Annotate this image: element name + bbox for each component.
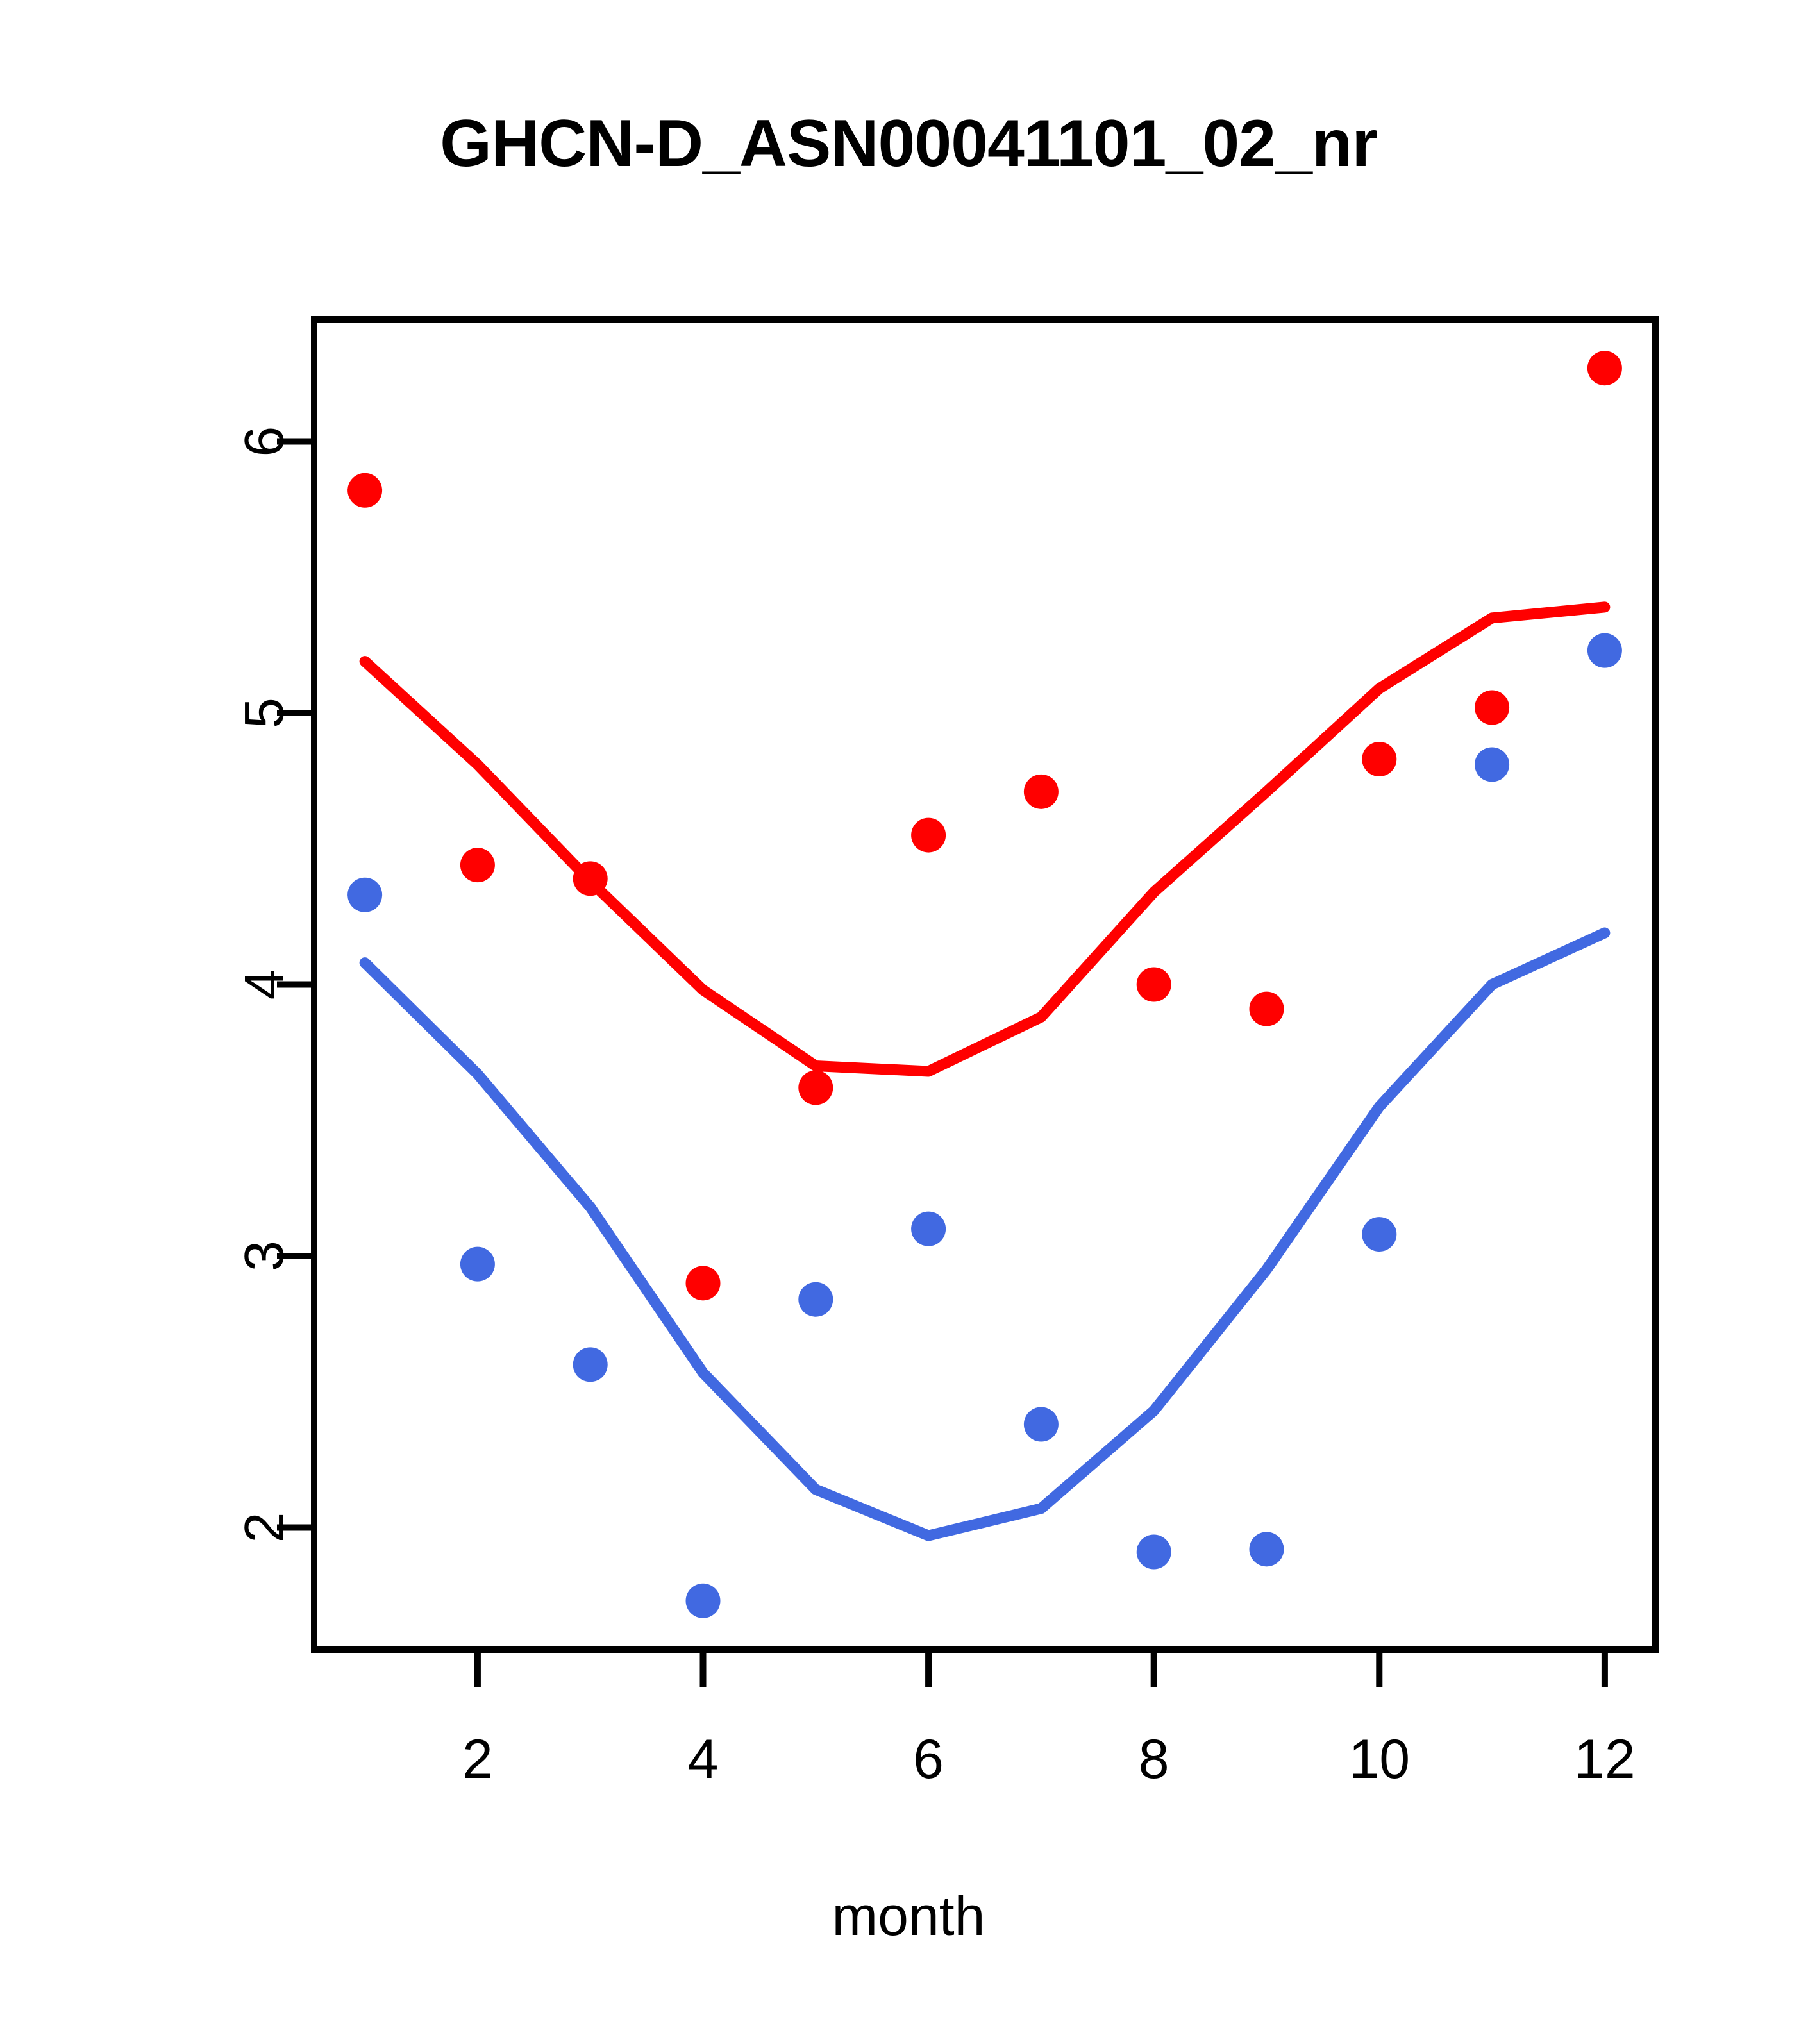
data-point	[347, 473, 382, 508]
x-axis-label: month	[0, 1885, 1817, 1948]
data-point	[460, 1247, 495, 1282]
data-point	[798, 1282, 833, 1317]
plot-border	[314, 319, 1655, 1650]
x-tick-label-12: 12	[1574, 1729, 1636, 1790]
x-tick-label-4: 4	[688, 1729, 719, 1790]
data-point	[1249, 992, 1284, 1026]
data-points	[347, 351, 1622, 1618]
data-point	[911, 1212, 946, 1246]
trend-lines	[365, 607, 1605, 1536]
x-tick-label-10: 10	[1348, 1729, 1410, 1790]
y-axis-tick-labels: 23456	[234, 426, 296, 1543]
data-point	[1362, 1217, 1396, 1252]
data-point	[798, 1070, 833, 1105]
series-line-blue-line	[365, 933, 1605, 1536]
data-point	[1475, 691, 1509, 725]
y-tick-label-6: 6	[234, 426, 296, 457]
series-line-red-line	[365, 607, 1605, 1071]
chart-figure: GHCN-D_ASN00041101_02_nr 23456 24681012 …	[0, 0, 1817, 2044]
data-point	[1137, 968, 1171, 1002]
y-tick-label-2: 2	[234, 1512, 296, 1543]
data-point	[1587, 351, 1622, 385]
data-point	[1024, 1407, 1059, 1442]
data-point	[460, 848, 495, 882]
data-point	[1024, 775, 1059, 809]
data-point	[911, 818, 946, 853]
data-point	[347, 878, 382, 912]
plot-box	[314, 319, 1655, 1650]
y-tick-label-3: 3	[234, 1241, 296, 1271]
data-point	[686, 1584, 721, 1618]
data-point	[573, 1347, 608, 1382]
data-point	[1475, 747, 1509, 782]
plot-canvas: 23456 24681012	[0, 0, 1817, 2044]
y-tick-label-4: 4	[234, 969, 296, 1000]
x-axis-tick-labels: 24681012	[462, 1729, 1636, 1790]
data-point	[1137, 1535, 1171, 1570]
data-point	[686, 1266, 721, 1300]
x-axis-ticks	[478, 1650, 1605, 1687]
data-point	[1587, 633, 1622, 668]
x-tick-label-2: 2	[462, 1729, 493, 1790]
x-tick-label-6: 6	[913, 1729, 944, 1790]
data-point	[573, 861, 608, 896]
data-point	[1249, 1532, 1284, 1566]
y-tick-label-5: 5	[234, 698, 296, 728]
data-point	[1362, 742, 1396, 776]
x-tick-label-8: 8	[1139, 1729, 1169, 1790]
